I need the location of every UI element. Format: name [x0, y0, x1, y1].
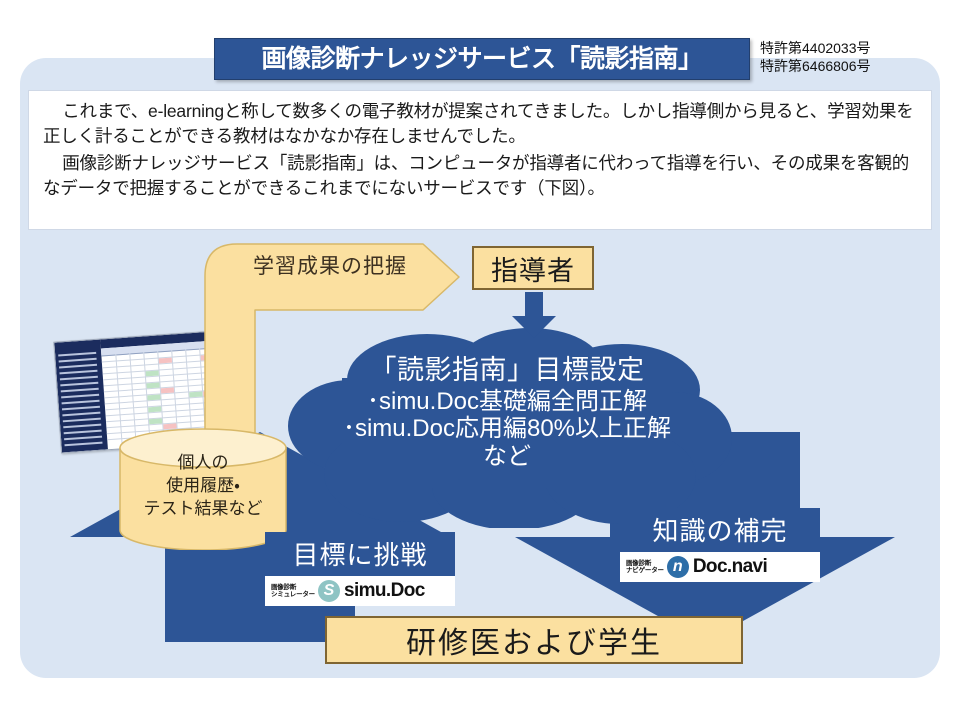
doc-navi-logo: 画像診断 ナビゲーター n Doc.navi: [620, 552, 820, 582]
spreadsheet-row-header: [54, 340, 108, 453]
simu-doc-wordmark: simu.Doc: [344, 580, 425, 602]
patent-number-1: 特許第4402033号: [760, 40, 871, 58]
intro-paragraph-2: 画像診断ナレッジサービス「読影指南」は、コンピュータが指導者に代わって指導を行い…: [43, 151, 917, 201]
doc-navi-mark-icon: n: [667, 556, 689, 578]
elbow-arrow-label-wrap: 学習成果の把握: [230, 250, 430, 280]
instructor-box: 指導者: [472, 246, 594, 290]
doc-navi-logo-subtitle: 画像診断 ナビゲーター: [626, 560, 664, 575]
arrow-down-instructor-to-cloud: [512, 292, 556, 338]
doc-navi-sub-line-2: ナビゲーター: [626, 567, 664, 574]
intro-paragraph-1: これまで、e-learningと称して数多くの電子教材が提案されてきました。しか…: [43, 99, 917, 149]
simu-doc-logo: 画像診断 シミュレーター S simu.Doc: [265, 576, 455, 606]
database-cylinder: [118, 428, 288, 550]
simu-doc-sub-line-1: 画像診断: [271, 584, 315, 591]
instructor-label: 指導者: [491, 249, 575, 288]
elbow-arrow-label: 学習成果の把握: [253, 250, 407, 280]
patent-numbers: 特許第4402033号 特許第6466806号: [760, 40, 871, 75]
left-flow-label-group: 目標に挑戦 画像診断 シミュレーター S simu.Doc: [265, 532, 455, 606]
simu-doc-mark-icon: S: [318, 580, 340, 602]
left-flow-label: 目標に挑戦: [265, 532, 455, 576]
students-box: 研修医および学生: [325, 616, 743, 664]
doc-navi-sub-line-1: 画像診断: [626, 560, 664, 567]
slide-canvas: 画像診断ナレッジサービス「読影指南」 特許第4402033号 特許第646680…: [0, 0, 960, 720]
page-title: 画像診断ナレッジサービス「読影指南」: [261, 47, 702, 72]
page-title-bar: 画像診断ナレッジサービス「読影指南」: [214, 38, 750, 80]
patent-number-2: 特許第6466806号: [760, 58, 871, 76]
students-label: 研修医および学生: [406, 618, 662, 662]
doc-navi-wordmark: Doc.navi: [693, 556, 767, 578]
simu-doc-logo-subtitle: 画像診断 シミュレーター: [271, 584, 315, 599]
simu-doc-sub-line-2: シミュレーター: [271, 591, 315, 598]
service-flow-diagram: 「読影指南」目標設定 ･simu.Doc基礎編全問正解 ･simu.Doc応用編…: [20, 236, 940, 678]
right-flow-label-group: 知識の補完 画像診断 ナビゲーター n Doc.navi: [620, 508, 820, 582]
right-flow-label: 知識の補完: [620, 508, 820, 552]
intro-textbox: これまで、e-learningと称して数多くの電子教材が提案されてきました。しか…: [28, 90, 932, 230]
